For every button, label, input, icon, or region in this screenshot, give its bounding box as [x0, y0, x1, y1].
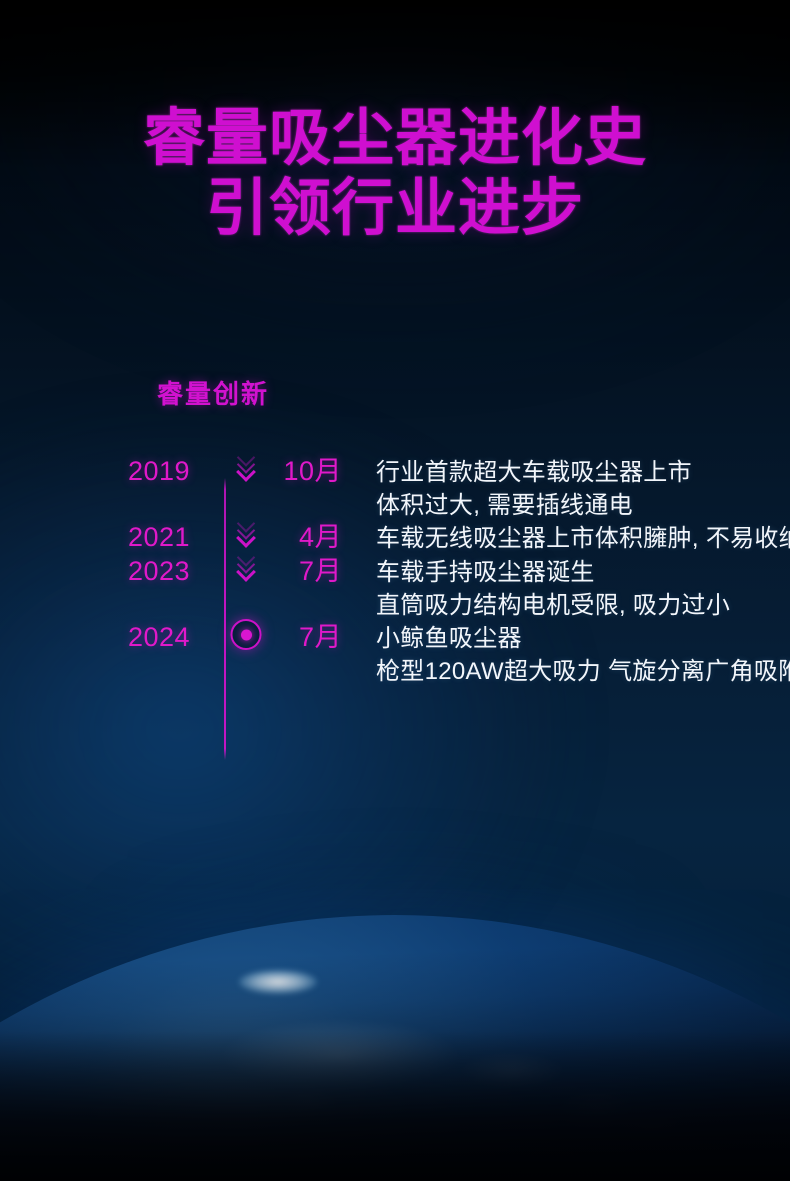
timeline-year: 2024 [128, 622, 224, 652]
timeline-year: 2023 [128, 556, 224, 586]
page-title: 睿量吸尘器进化史 引领行业进步 [0, 104, 790, 244]
timeline-month: 7月 [268, 556, 346, 586]
current-milestone-dot-icon [231, 619, 262, 650]
timeline-description-line: 车载手持吸尘器诞生 [376, 556, 776, 589]
chevron-marker-icon [235, 517, 257, 551]
marketing-poster: 睿量吸尘器进化史 引领行业进步 睿量创新 2019 10月 行业首款超大车载 [0, 0, 790, 1181]
timeline-marker [224, 556, 268, 590]
timeline-month: 7月 [268, 622, 346, 652]
timeline-row: 2021 4月 车载无线吸尘器上市体积臃肿, 不易收纳 [0, 522, 790, 556]
timeline-marker [224, 456, 268, 490]
page-title-line-1: 睿量吸尘器进化史 [0, 104, 790, 174]
innovation-timeline: 睿量创新 2019 10月 行业首款超大车载吸尘器上市 体积过大, 需要插线通电 [0, 378, 790, 688]
timeline-description-line: 行业首款超大车载吸尘器上市 [376, 456, 776, 489]
timeline-description-line: 车载无线吸尘器上市体积臃肿, 不易收纳 [376, 522, 790, 555]
background-bottom-vignette [0, 1031, 790, 1181]
timeline-description: 车载无线吸尘器上市体积臃肿, 不易收纳 [376, 522, 790, 555]
timeline-heading: 睿量创新 [157, 378, 790, 410]
page-title-line-2: 引领行业进步 [0, 174, 790, 244]
timeline-year: 2019 [128, 456, 224, 486]
timeline-row: 2023 7月 车载手持吸尘器诞生 直筒吸力结构电机受限, 吸力过小 [0, 556, 790, 622]
timeline-month: 10月 [268, 456, 346, 486]
timeline-rows: 2019 10月 行业首款超大车载吸尘器上市 体积过大, 需要插线通电 2021 [0, 456, 790, 688]
timeline-row-current: 2024 7月 小鲸鱼吸尘器 枪型120AW超大吸力 气旋分离广角吸附 [0, 622, 790, 688]
timeline-description: 行业首款超大车载吸尘器上市 体积过大, 需要插线通电 [376, 456, 790, 522]
timeline-description: 车载手持吸尘器诞生 直筒吸力结构电机受限, 吸力过小 [376, 556, 790, 622]
timeline-description-line: 小鲸鱼吸尘器 [376, 622, 790, 655]
timeline-description: 小鲸鱼吸尘器 枪型120AW超大吸力 气旋分离广角吸附 [376, 622, 790, 688]
chevron-marker-icon [235, 551, 257, 585]
chevron-marker-icon [235, 451, 257, 485]
timeline-year: 2021 [128, 522, 224, 552]
timeline-description-line: 体积过大, 需要插线通电 [376, 489, 776, 522]
timeline-marker [224, 622, 268, 656]
timeline-description-line: 枪型120AW超大吸力 气旋分离广角吸附 [376, 655, 790, 688]
timeline-row: 2019 10月 行业首款超大车载吸尘器上市 体积过大, 需要插线通电 [0, 456, 790, 522]
timeline-month: 4月 [268, 522, 346, 552]
timeline-description-line: 直筒吸力结构电机受限, 吸力过小 [376, 589, 776, 622]
